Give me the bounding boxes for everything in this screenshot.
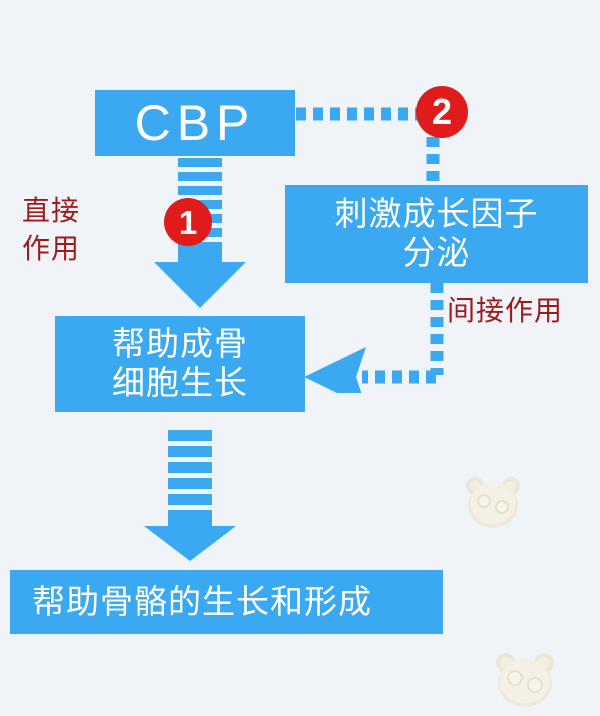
box-growth-factor-line1: 刺激成长因子 [335,195,539,232]
box-growth-factor: 刺激成长因子 分泌 [285,185,588,283]
dashed-arrow-indirect [300,283,460,393]
box-cbp: CBP [95,90,295,156]
box-cbp-label: CBP [135,94,256,153]
badge-one: 1 [164,198,212,246]
box-osteoblast-line2: 细胞生长 [112,364,248,403]
badge-one-label: 1 [179,206,197,239]
bear-tablet-icon-bottom [492,650,558,710]
label-indirect-action: 间接作用 [447,292,563,330]
label-direct-action: 直接 作用 [22,192,80,268]
box-growth-factor-line2: 分泌 [335,234,539,273]
box-osteoblast-line1: 帮助成骨 [112,325,248,362]
box-bone-formation: 帮助骨骼的生长和形成 [10,570,443,634]
diagram-canvas: CBP 2 刺激成长因子 分泌 1 直接 作用 [0,0,600,716]
box-bone-formation-label: 帮助骨骼的生长和形成 [32,583,372,622]
arrow-to-bone [142,430,238,562]
bear-tablet-icon-top [462,474,524,532]
box-osteoblast: 帮助成骨 细胞生长 [55,316,305,412]
badge-two-label: 2 [432,94,452,130]
badge-two: 2 [416,86,468,138]
